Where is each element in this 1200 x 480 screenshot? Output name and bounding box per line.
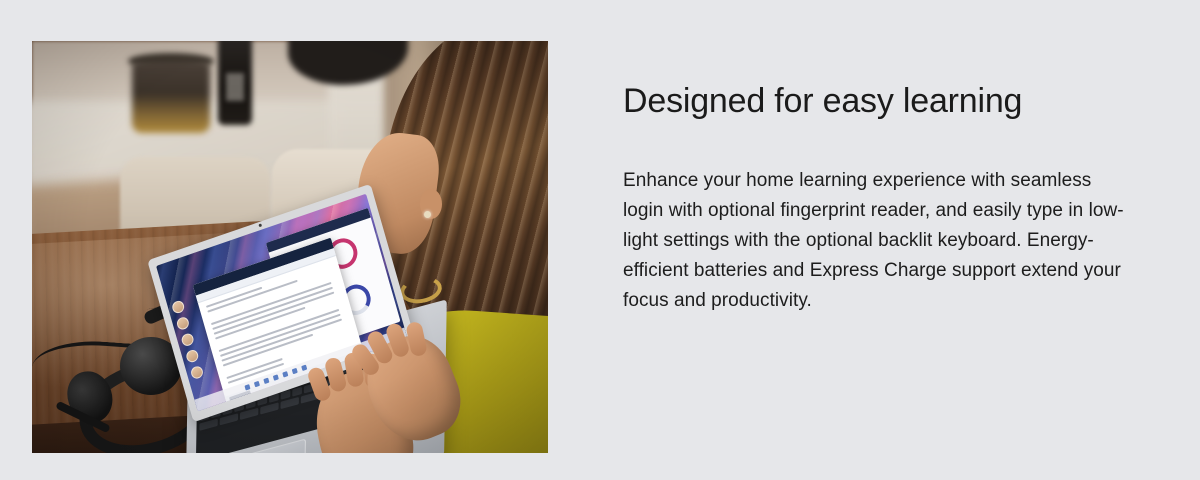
- earring: [424, 211, 431, 218]
- background-pot: [132, 61, 210, 133]
- feature-section: Designed for easy learning Enhance your …: [0, 0, 1200, 480]
- background-bottle-label: [226, 73, 244, 101]
- copy-block: Designed for easy learning Enhance your …: [623, 80, 1133, 316]
- webcam-icon: [258, 224, 262, 228]
- photo-scene: [32, 41, 548, 453]
- lifestyle-photo: [32, 41, 548, 453]
- page-title: Designed for easy learning: [623, 80, 1133, 122]
- body-paragraph: Enhance your home learning experience wi…: [623, 166, 1131, 316]
